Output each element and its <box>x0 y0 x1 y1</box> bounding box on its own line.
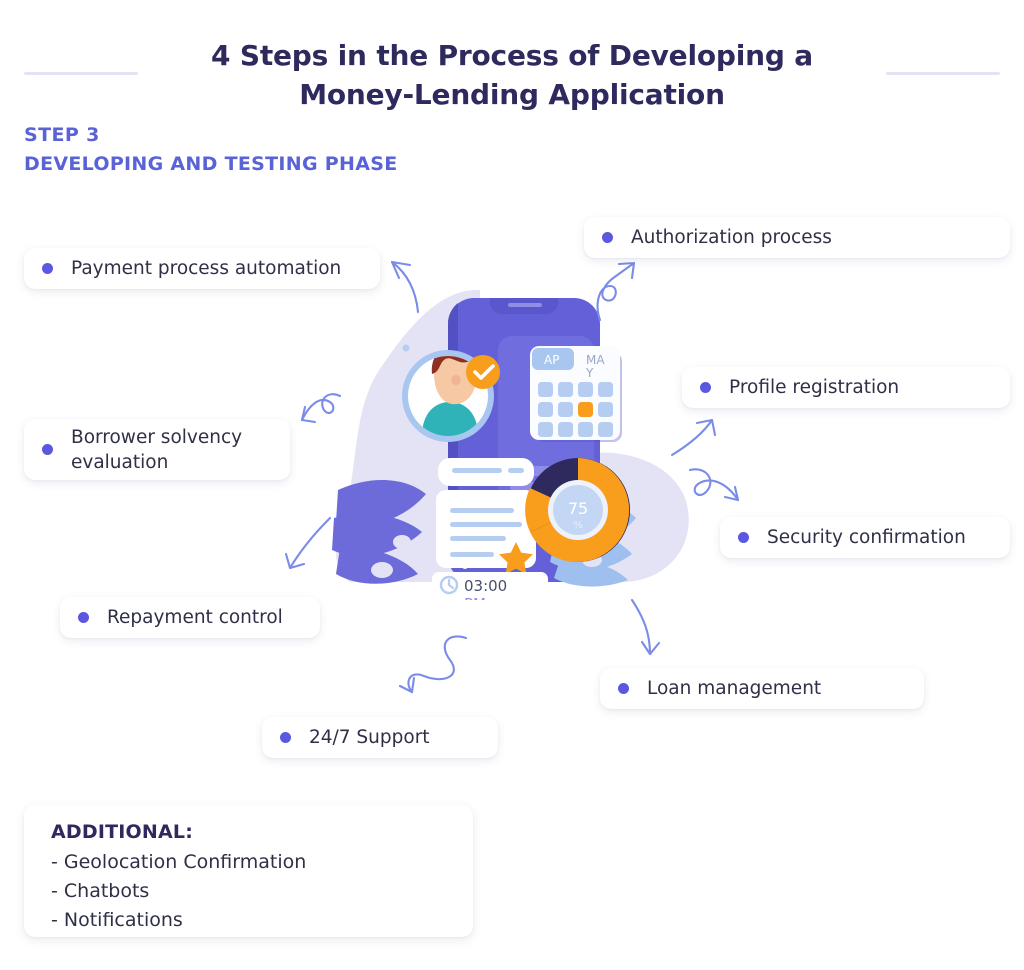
pill-security-confirmation[interactable]: Security confirmation <box>720 517 1010 558</box>
bullet-dot-icon <box>618 683 629 694</box>
arrow-to-support <box>400 636 466 692</box>
bullet-dot-icon <box>280 732 291 743</box>
pill-profile-registration[interactable]: Profile registration <box>682 367 1010 408</box>
phase-label: DEVELOPING AND TESTING PHASE <box>24 153 397 175</box>
time-chip-meridiem: PM <box>464 595 486 600</box>
check-badge-icon <box>466 355 500 389</box>
pill-authorization-process[interactable]: Authorization process <box>584 217 1010 258</box>
additional-title: ADDITIONAL: <box>51 821 473 843</box>
page-title: 4 Steps in the Process of Developing a M… <box>152 36 872 114</box>
pill-label: Profile registration <box>729 375 899 400</box>
time-chip-value: 03:00 <box>464 577 507 595</box>
pill-borrower-solvency-evaluation[interactable]: Borrower solvency evaluation <box>24 419 290 480</box>
pill-label: Borrower solvency evaluation <box>71 425 242 475</box>
bullet-dot-icon <box>738 532 749 543</box>
card-top-line-1 <box>452 468 502 473</box>
pill-label: Loan management <box>647 676 821 701</box>
bullet-dot-icon <box>78 612 89 623</box>
calendar-cell-selected <box>578 402 593 417</box>
pill-label: Repayment control <box>107 605 283 630</box>
card-main-line-3 <box>450 536 506 541</box>
calendar-tab-inactive-label-2: Y <box>585 366 594 380</box>
header-rule-right <box>886 72 1000 75</box>
pill-24-7-support[interactable]: 24/7 Support <box>262 717 498 758</box>
pill-label: Security confirmation <box>767 525 966 550</box>
calendar-tab-active-label: AP <box>544 353 559 367</box>
additional-features-card: ADDITIONAL: - Geolocation Confirmation -… <box>24 805 473 937</box>
arrow-to-repayment <box>286 518 330 568</box>
leaf-left <box>332 480 426 584</box>
decor-dot-1 <box>403 345 410 352</box>
pill-label: Authorization process <box>631 225 832 250</box>
pill-payment-process-automation[interactable]: Payment process automation <box>24 248 380 289</box>
bullet-dot-icon <box>602 232 613 243</box>
money-lending-app-illustration: 03:00 PM AP MA Y <box>330 270 700 600</box>
donut-value: 75 <box>568 499 588 518</box>
arrow-to-loan <box>632 600 659 654</box>
header-rule-left <box>24 72 138 75</box>
pill-label: Payment process automation <box>71 256 341 281</box>
additional-item: - Geolocation Confirmation <box>51 848 473 877</box>
card-main-line-2 <box>450 522 522 527</box>
card-main-line-4 <box>450 552 494 557</box>
bullet-dot-icon <box>42 263 53 274</box>
pill-repayment-control[interactable]: Repayment control <box>60 597 320 638</box>
card-top-line-2 <box>508 468 524 473</box>
phone-speaker <box>508 303 542 307</box>
bullet-dot-icon <box>700 382 711 393</box>
step-label: STEP 3 <box>24 124 100 146</box>
calendar-tab-inactive-label-1: MA <box>586 353 605 367</box>
pill-label: 24/7 Support <box>309 725 430 750</box>
decor-dot-2 <box>462 563 468 569</box>
donut-unit: % <box>573 520 583 531</box>
additional-item: - Chatbots <box>51 877 473 906</box>
pill-loan-management[interactable]: Loan management <box>600 668 924 709</box>
card-main-line-1 <box>450 508 514 513</box>
bullet-dot-icon <box>42 444 53 455</box>
additional-item: - Notifications <box>51 906 473 935</box>
